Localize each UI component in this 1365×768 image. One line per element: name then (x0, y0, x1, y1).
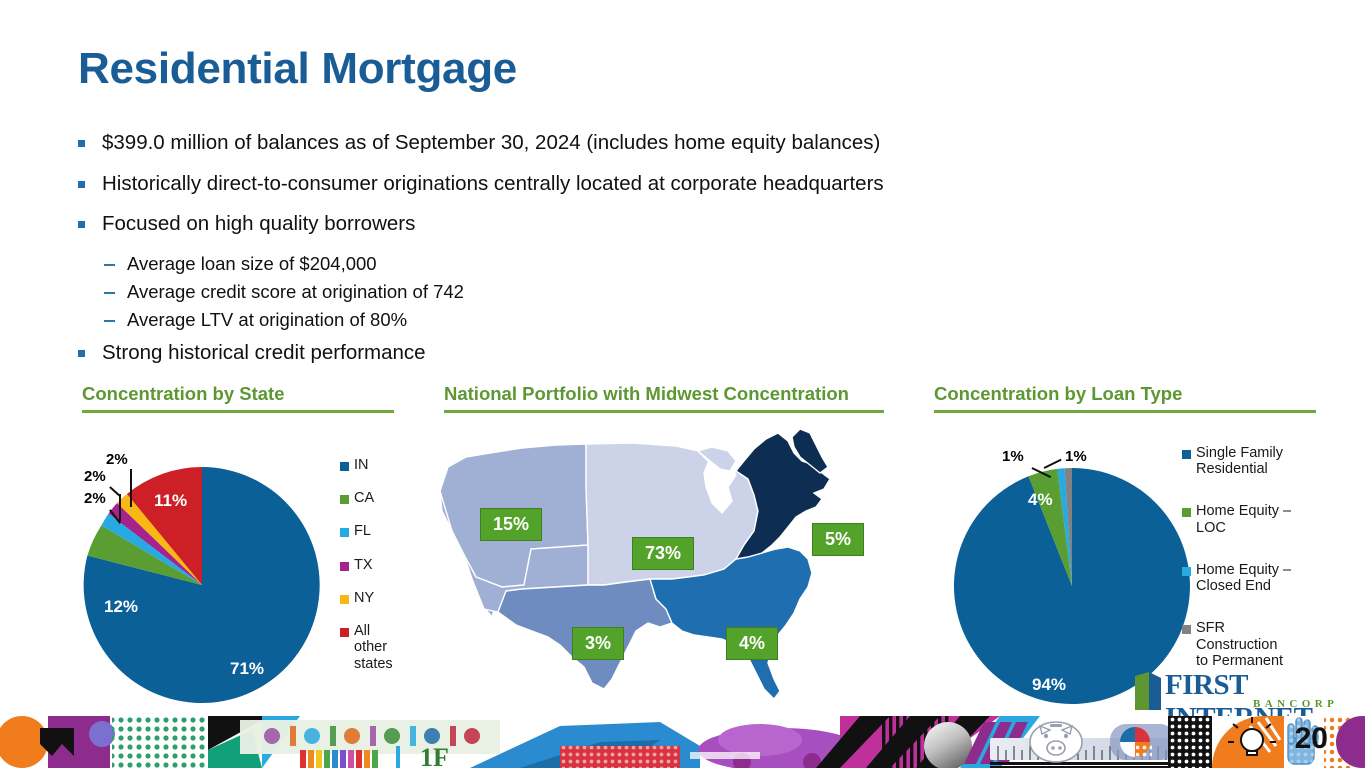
sub-bullet-list: Average loan size of $204,000 Average cr… (104, 253, 1078, 331)
state-pie-legend: IN CA FL TX NY All other states (340, 457, 394, 689)
logo-mark-icon (1133, 672, 1163, 710)
legend-item: Home Equity – Closed End (1182, 562, 1302, 594)
bullet-text: Focused on high quality borrowers (102, 212, 415, 236)
bullet-square-icon (78, 350, 85, 357)
legend-item: CA (340, 490, 394, 506)
panel-underline (444, 410, 884, 413)
map-tag-northeast: 5% (812, 523, 864, 556)
state-pie-svg (82, 465, 322, 705)
legend-swatch-icon (340, 495, 349, 504)
pie-label-single-family: 94% (1032, 675, 1066, 695)
pie-callout-fl: 2% (84, 490, 106, 507)
legend-swatch-icon (1182, 625, 1191, 634)
pie-callout-home-equity-closed-end: 1% (1002, 448, 1024, 465)
leader-line-ny (130, 469, 132, 507)
pie-callout-sfr-construction: 1% (1065, 448, 1087, 465)
legend-swatch-icon (1182, 567, 1191, 576)
legend-label: CA (354, 490, 374, 506)
sub-bullet-text: Average loan size of $204,000 (127, 253, 377, 274)
leader-line-tx-v (119, 494, 121, 521)
legend-swatch-icon (340, 462, 349, 471)
bullet-list: $399.0 million of balances as of Septemb… (78, 131, 1078, 382)
legend-label: SFR Construction to Permanent (1196, 620, 1288, 669)
pie-label-all-other: 11% (154, 491, 187, 511)
legend-swatch-icon (340, 595, 349, 604)
legend-label: IN (354, 457, 369, 473)
logo-subtext: BANCORP (1253, 698, 1338, 710)
map-tag-southwest: 3% (572, 627, 624, 660)
dash-icon (104, 320, 115, 322)
legend-swatch-icon (1182, 508, 1191, 517)
legend-label: All other states (354, 623, 394, 672)
legend-item: IN (340, 457, 394, 473)
legend-label: FL (354, 523, 371, 539)
bullet-text: Historically direct-to-consumer originat… (102, 172, 884, 196)
sub-bullet-item: Average credit score at origination of 7… (104, 281, 1078, 302)
pie-label-ca: 12% (104, 597, 138, 617)
pie-callout-tx: 2% (84, 468, 106, 485)
legend-swatch-icon (340, 628, 349, 637)
map-tag-midwest: 73% (632, 537, 694, 570)
map-tag-west: 15% (480, 508, 542, 541)
bullet-text: Strong historical credit performance (102, 341, 426, 365)
sub-bullet-item: Average LTV at origination of 80% (104, 309, 1078, 330)
svg-text:1F: 1F (420, 743, 449, 768)
legend-item: All other states (340, 623, 394, 672)
legend-item: Home Equity – LOC (1182, 503, 1302, 535)
panel-title: Concentration by Loan Type (934, 383, 1316, 405)
legend-item: TX (340, 557, 394, 573)
pie-label-in: 71% (230, 659, 264, 679)
dash-icon (104, 264, 115, 266)
legend-item: FL (340, 523, 394, 539)
panel-concentration-by-state: Concentration by State 71% 12% 1 (82, 383, 394, 691)
legend-label: TX (354, 557, 373, 573)
sub-bullet-text: Average credit score at origination of 7… (127, 281, 464, 302)
bullet-item: $399.0 million of balances as of Septemb… (78, 131, 1078, 155)
footer-decorative-strip: 1F (0, 716, 1365, 768)
bullet-square-icon (78, 140, 85, 147)
legend-label: Home Equity – LOC (1196, 503, 1302, 535)
bullet-square-icon (78, 221, 85, 228)
pie-callout-ny: 2% (106, 451, 128, 468)
company-logo: FIRST INTERNET BANCORP (1133, 668, 1358, 714)
bullet-item: Strong historical credit performance (78, 341, 1078, 365)
legend-swatch-icon (340, 528, 349, 537)
bullet-item: Focused on high quality borrowers (78, 212, 1078, 236)
panel-underline (934, 410, 1316, 413)
legend-swatch-icon (340, 562, 349, 571)
slide-root: Residential Mortgage $399.0 million of b… (0, 0, 1365, 768)
dash-icon (104, 292, 115, 294)
sub-bullet-text: Average LTV at origination of 80% (127, 309, 407, 330)
legend-label: Home Equity – Closed End (1196, 562, 1302, 594)
legend-label: NY (354, 590, 374, 606)
bullet-square-icon (78, 181, 85, 188)
panel-concentration-by-loan-type: Concentration by Loan Type 94% 4% 1% 1% (934, 383, 1316, 711)
bullet-text: $399.0 million of balances as of Septemb… (102, 131, 880, 155)
panel-title: National Portfolio with Midwest Concentr… (444, 383, 884, 405)
piggy-bank-icon (1030, 722, 1082, 762)
loan-pie-legend: Single Family Residential Home Equity – … (1182, 445, 1302, 686)
legend-item: Single Family Residential (1182, 445, 1302, 477)
footer-collage-svg: 1F (0, 716, 1365, 768)
map-tag-southeast: 4% (726, 627, 778, 660)
page-title: Residential Mortgage (78, 44, 517, 94)
sub-bullet-item: Average loan size of $204,000 (104, 253, 1078, 274)
legend-swatch-icon (1182, 450, 1191, 459)
panel-underline (82, 410, 394, 413)
legend-item: SFR Construction to Permanent (1182, 620, 1302, 669)
legend-item: NY (340, 590, 394, 606)
bullet-item: Historically direct-to-consumer originat… (78, 172, 1078, 196)
legend-label: Single Family Residential (1196, 445, 1302, 477)
page-number: 20 (1295, 722, 1328, 756)
pie-label-home-equity-loc: 4% (1028, 490, 1053, 510)
panel-title: Concentration by State (82, 383, 394, 405)
panel-national-portfolio-map: National Portfolio with Midwest Concentr… (444, 383, 884, 717)
us-map-chart: 15% 73% 3% 4% 5% (444, 427, 884, 717)
